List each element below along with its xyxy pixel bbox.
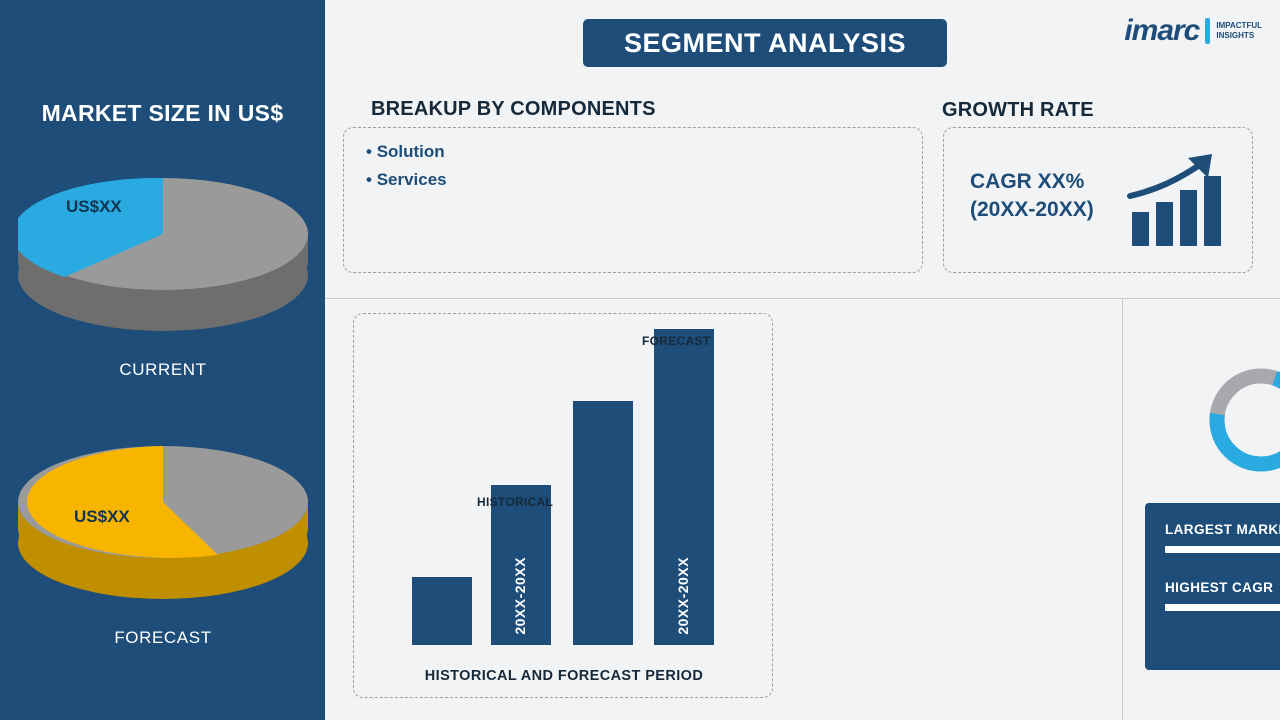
historical-annotation: HISTORICAL	[477, 495, 553, 509]
highest-cagr-track	[1165, 604, 1280, 611]
breakup-components-box: Solution Services	[343, 127, 923, 273]
growth-arrow-bars-icon	[1126, 150, 1236, 255]
largest-market-label: LARGEST MARKET	[1165, 522, 1280, 537]
segment-analysis-banner: SEGMENT ANALYSIS	[583, 19, 947, 67]
cagr-line1: CAGR XX%	[970, 170, 1084, 193]
stat-row-largest-market: LARGEST MARKET XX	[1165, 521, 1280, 553]
page-title: MARKET SIZE IN US$	[0, 100, 325, 127]
highest-cagr-label: HIGHEST CAGR	[1165, 580, 1273, 595]
cagr-text: CAGR XX% (20XX-20XX)	[970, 168, 1094, 224]
bar-3	[573, 401, 633, 645]
forecast-annotation: FORECAST	[642, 334, 710, 348]
bar-1	[412, 577, 472, 645]
bar-2-label: 20XX-20XX	[512, 557, 528, 635]
vertical-divider	[1122, 299, 1123, 720]
largest-market-track	[1165, 546, 1280, 553]
growth-rate-box: CAGR XX% (20XX-20XX)	[943, 127, 1253, 273]
bar-4-label: 20XX-20XX	[675, 557, 691, 635]
historical-forecast-chart: 20XX-20XX HISTORICAL 20XX-20XX FORECAST …	[353, 313, 773, 698]
donut-chart-count: XX	[1206, 365, 1280, 475]
pie-chart-current	[18, 160, 308, 355]
market-stats-box: LARGEST MARKET XX HIGHEST CAGR XX%	[1145, 503, 1280, 670]
largest-market-fill	[1165, 546, 1280, 553]
segment-analysis-panel: SEGMENT ANALYSIS imarc IMPACTFUL INSIGHT…	[325, 0, 1280, 720]
highest-cagr-fill	[1165, 604, 1280, 611]
list-item: Solution	[366, 142, 900, 162]
chart-axis-label: HISTORICAL AND FORECAST PERIOD	[354, 668, 774, 684]
logo-tagline-line1: IMPACTFUL	[1216, 21, 1262, 30]
list-item: Services	[366, 170, 900, 190]
breakup-title: BREAKUP BY COMPONENTS	[371, 98, 656, 121]
pie-current-caption: CURRENT	[18, 360, 308, 380]
logo-tagline-line2: INSIGHTS	[1216, 31, 1254, 40]
stat-row-highest-cagr: HIGHEST CAGR XX%	[1165, 579, 1280, 611]
growth-rate-title: GROWTH RATE	[942, 99, 1094, 122]
logo-wordmark: imarc	[1124, 14, 1199, 48]
imarc-logo: imarc IMPACTFUL INSIGHTS	[1124, 14, 1262, 48]
logo-tagline: IMPACTFUL INSIGHTS	[1216, 21, 1262, 41]
cagr-line2: (20XX-20XX)	[970, 198, 1094, 221]
pie-forecast-caption: FORECAST	[18, 628, 308, 648]
pie-forecast-value: US$XX	[74, 507, 130, 527]
pie-current-value: US$XX	[66, 197, 122, 217]
pie-chart-forecast	[18, 428, 308, 623]
logo-accent-bar	[1205, 18, 1210, 44]
market-size-panel: MARKET SIZE IN US$ US$XX CURRENT US$XX F…	[0, 0, 325, 720]
